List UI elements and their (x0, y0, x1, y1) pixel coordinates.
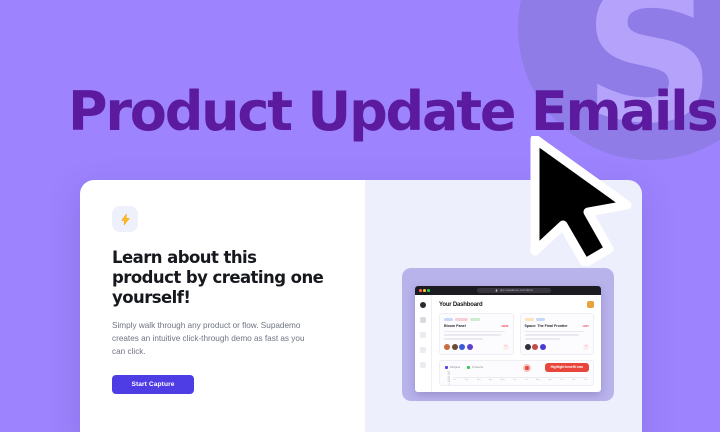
x-axis: JanFebMarAprMayJunJulAugSepOctNovDec (445, 379, 588, 381)
text-line (444, 331, 505, 333)
mock-card-top: Bloom Panel NEW (444, 324, 509, 328)
x-tick-label: Nov (572, 379, 576, 381)
x-tick-label: Dec (584, 379, 588, 381)
avatar[interactable] (587, 301, 594, 308)
avatar (459, 344, 465, 350)
click-indicator (523, 364, 531, 372)
bar-column[interactable] (513, 372, 516, 377)
x-tick-label: May (501, 379, 505, 381)
text-line (525, 331, 584, 333)
legend-swatch (445, 366, 448, 369)
x-tick-label: Feb (465, 379, 469, 381)
x-tick-label: Apr (489, 379, 492, 381)
avatar (444, 344, 450, 350)
text-line (444, 338, 483, 340)
bar-column[interactable] (537, 372, 540, 377)
legend-swatch (467, 366, 470, 369)
bar-series (453, 372, 588, 378)
x-tick-label: Sep (548, 379, 552, 381)
x-tick-label: Oct (560, 379, 563, 381)
x-tick-label: Jul (525, 379, 528, 381)
url-bar[interactable]: app.supademo.com/demo (477, 288, 551, 293)
mock-card[interactable]: Bloom Panel NEW (439, 313, 514, 355)
clock-icon[interactable] (420, 347, 426, 353)
tag-pill (536, 318, 545, 321)
legend-item: Widgets (445, 365, 460, 369)
bar-column[interactable] (465, 372, 468, 377)
url-text: app.supademo.com/demo (500, 289, 533, 292)
browser-window: app.supademo.com/demo (415, 286, 601, 392)
chart-icon[interactable] (420, 332, 426, 338)
page-title: Product Update Emails (68, 84, 716, 141)
x-tick-label: Jun (513, 379, 517, 381)
bar-column[interactable] (561, 372, 564, 377)
bar-column[interactable] (477, 372, 480, 377)
avatar (540, 344, 546, 350)
mock-card[interactable]: Space: The Final Frontier HOT (520, 313, 595, 355)
screenshot-stage: S Product Update Emails Learn about this… (0, 0, 720, 432)
more-avatars-badge[interactable]: + (583, 344, 589, 350)
x-tick-label: Mar (477, 379, 481, 381)
avatar (467, 344, 473, 350)
text-line (525, 334, 579, 336)
mock-header: Your Dashboard (439, 301, 594, 308)
status-badge: HOT (583, 324, 589, 328)
avatar-group: + (444, 344, 509, 350)
bar-column[interactable] (585, 372, 588, 377)
card-description: Simply walk through any product or flow.… (112, 320, 308, 359)
chart-card: Widgets Products Highlight benefit now (439, 360, 594, 386)
bar-column[interactable] (453, 372, 456, 377)
bar-column[interactable] (525, 372, 528, 377)
text-line (444, 334, 501, 336)
y-tick-label: 0 (449, 384, 450, 386)
more-avatars-badge[interactable]: + (503, 344, 509, 350)
text-line (525, 338, 560, 340)
tag-pill (470, 318, 480, 321)
x-tick-label: Aug (536, 379, 540, 381)
tag-row (525, 318, 590, 321)
start-capture-button[interactable]: Start Capture (112, 375, 194, 394)
browser-content: Your Dashboard (415, 295, 601, 392)
bar-column[interactable] (501, 372, 504, 377)
dashboard-title: Your Dashboard (439, 302, 482, 308)
traffic-light-red (419, 289, 422, 292)
bar-column[interactable] (549, 372, 552, 377)
traffic-light-yellow (423, 289, 426, 292)
mock-main: Your Dashboard (432, 295, 601, 392)
tag-pill (455, 318, 468, 321)
gear-icon[interactable] (420, 302, 426, 308)
product-card: Learn about this product by creating one… (80, 180, 642, 432)
tag-pill (444, 318, 453, 321)
legend-label: Widgets (450, 365, 460, 369)
mock-sidebar (415, 295, 432, 392)
tag-pill (525, 318, 534, 321)
browser-titlebar: app.supademo.com/demo (415, 286, 601, 295)
avatar (452, 344, 458, 350)
avatar-group: + (525, 344, 590, 350)
card-left-panel: Learn about this product by creating one… (80, 180, 365, 432)
device-frame: app.supademo.com/demo (402, 268, 614, 401)
user-icon[interactable] (420, 317, 426, 323)
avatar (525, 344, 531, 350)
legend-item: Products (467, 365, 483, 369)
traffic-light-green (427, 289, 430, 292)
lock-icon (495, 289, 498, 292)
mock-card-row: Bloom Panel NEW (439, 313, 594, 355)
avatar (532, 344, 538, 350)
mock-card-title: Space: The Final Frontier (525, 324, 568, 328)
card-right-panel: app.supademo.com/demo (365, 180, 642, 432)
grid-icon[interactable] (420, 362, 426, 368)
legend-label: Products (472, 365, 483, 369)
tag-row (444, 318, 509, 321)
mock-card-title: Bloom Panel (444, 324, 466, 328)
x-tick-label: Jan (453, 379, 457, 381)
mock-card-top: Space: The Final Frontier HOT (525, 324, 590, 328)
bar-column[interactable] (573, 372, 576, 377)
y-axis: 50403020100 (445, 372, 450, 378)
lightning-bolt-icon (112, 206, 138, 232)
chart-plot: 50403020100 (445, 372, 588, 378)
card-heading: Learn about this product by creating one… (112, 248, 327, 308)
bar-column[interactable] (489, 372, 492, 377)
status-badge: NEW (502, 324, 509, 328)
tooltip-badge: Highlight benefit now (545, 363, 589, 372)
